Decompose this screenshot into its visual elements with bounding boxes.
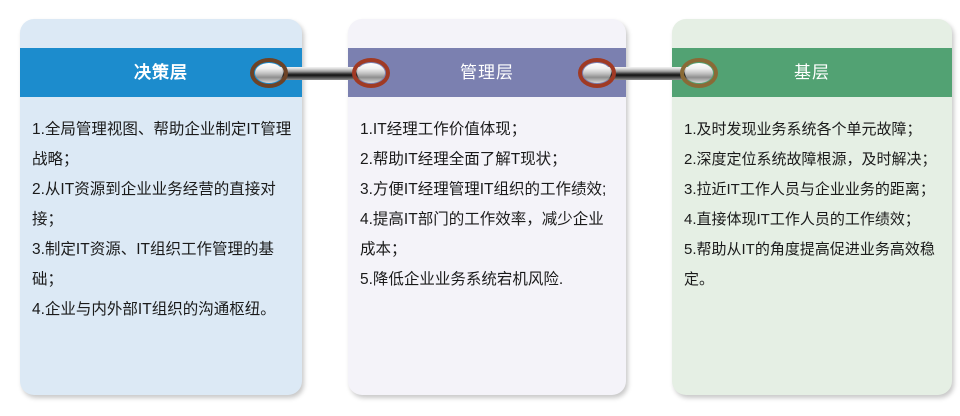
card-body-decision-layer: 1.全局管理视图、帮助企业制定IT管理战略； 2.从IT资源到企业业务经营的直接… [20,97,302,395]
diagram-canvas: 决策层 1.全局管理视图、帮助企业制定IT管理战略； 2.从IT资源到企业业务经… [0,0,960,416]
connector-decision-to-management [250,58,390,88]
list-item: 4.直接体现IT工作人员的工作绩效； [684,205,942,235]
connector-eyelet-left-icon [250,58,288,88]
list-item: 1.全局管理视图、帮助企业制定IT管理战略； [32,115,292,175]
list-item: 3.方便IT经理管理IT组织的工作绩效; [360,175,616,205]
connector-eyelet-right-icon [680,58,718,88]
eyelet-ring [250,58,288,88]
list-item: 5.帮助从IT的角度提高促进业务高效稳定。 [684,235,942,295]
list-item: 2.帮助IT经理全面了解T现状； [360,145,616,175]
list-item: 1.及时发现业务系统各个单元故障； [684,115,942,145]
list-item: 1.IT经理工作价值体现； [360,115,616,145]
list-item: 4.企业与内外部IT组织的沟通枢纽。 [32,295,292,325]
list-item: 3.拉近IT工作人员与企业业务的距离； [684,175,942,205]
list-item: 2.从IT资源到企业业务经营的直接对接； [32,175,292,235]
eyelet-ring [352,58,390,88]
list-item: 2.深度定位系统故障根源，及时解决； [684,145,942,175]
card-body-management-layer: 1.IT经理工作价值体现； 2.帮助IT经理全面了解T现状； 3.方便IT经理管… [348,97,626,395]
connector-management-to-base [578,58,718,88]
card-title-base-layer: 基层 [794,64,830,81]
list-item: 4.提高IT部门的工作效率，减少企业成本； [360,205,616,265]
connector-eyelet-left-icon [578,58,616,88]
eyelet-ring [680,58,718,88]
card-body-base-layer: 1.及时发现业务系统各个单元故障； 2.深度定位系统故障根源，及时解决； 3.拉… [672,97,952,395]
card-title-management-layer: 管理层 [460,64,514,81]
connector-eyelet-right-icon [352,58,390,88]
card-title-decision-layer: 决策层 [134,64,188,81]
list-item: 3.制定IT资源、IT组织工作管理的基础； [32,235,292,295]
list-item: 5.降低企业业务系统宕机风险. [360,265,616,295]
eyelet-ring [578,58,616,88]
